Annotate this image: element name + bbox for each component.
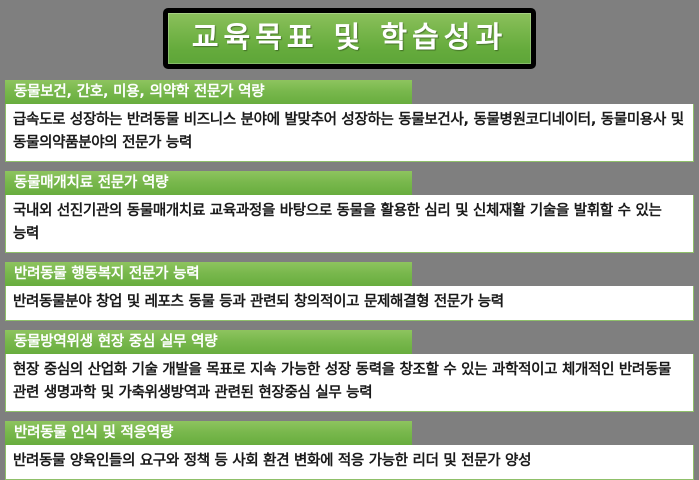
title-box: 교육목표 및 학습성과 (163, 8, 536, 69)
competency-section: 동물보건, 간호, 미용, 의약학 전문가 역량 급속도로 성장하는 반려동물 … (5, 80, 694, 162)
section-body-text: 현장 중심의 산업화 기술 개발을 목표로 지속 가능한 성장 동력을 창조할 … (13, 359, 686, 405)
section-header-label: 동물매개치료 전문가 역량 (14, 174, 412, 192)
section-body-text: 급속도로 성장하는 반려동물 비즈니스 분야에 발맞추어 성장하는 동물보건사,… (13, 109, 686, 155)
section-body-text: 국내외 선진기관의 동물매개치료 교육과정을 바탕으로 동물을 활용한 심리 및… (13, 200, 686, 246)
title-banner: 교육목표 및 학습성과 (0, 8, 699, 69)
competency-section: 동물방역위생 현장 중심 실무 역량 현장 중심의 산업화 기술 개발을 목표로… (5, 330, 694, 412)
competency-section: 반려동물 행동복지 전문가 능력 반려동물분야 창업 및 레포츠 동물 등과 관… (5, 262, 694, 321)
section-header-bar: 반려동물 인식 및 적응역량 (5, 421, 412, 445)
section-header-bar: 동물매개치료 전문가 역량 (5, 171, 412, 195)
section-header-label: 반려동물 행동복지 전문가 능력 (14, 265, 412, 283)
section-body-box: 국내외 선진기관의 동물매개치료 교육과정을 바탕으로 동물을 활용한 심리 및… (5, 195, 694, 253)
section-header-bar: 동물방역위생 현장 중심 실무 역량 (5, 330, 412, 354)
section-body-box: 반려동물 양육인들의 요구와 정책 등 사회 환견 변화에 적응 가능한 리더 … (5, 445, 694, 480)
competency-section-list: 동물보건, 간호, 미용, 의약학 전문가 역량 급속도로 성장하는 반려동물 … (5, 80, 694, 480)
section-body-box: 반려동물분야 창업 및 레포츠 동물 등과 관련되 창의적이고 문제해결형 전문… (5, 286, 694, 321)
section-body-box: 급속도로 성장하는 반려동물 비즈니스 분야에 발맞추어 성장하는 동물보건사,… (5, 104, 694, 162)
section-body-box: 현장 중심의 산업화 기술 개발을 목표로 지속 가능한 성장 동력을 창조할 … (5, 354, 694, 412)
section-header-label: 동물보건, 간호, 미용, 의약학 전문가 역량 (14, 83, 412, 101)
page-title: 교육목표 및 학습성과 (192, 18, 507, 56)
slide-root: 교육목표 및 학습성과 동물보건, 간호, 미용, 의약학 전문가 역량 급속도… (0, 0, 699, 480)
competency-section: 반려동물 인식 및 적응역량 반려동물 양육인들의 요구와 정책 등 사회 환견… (5, 421, 694, 480)
section-header-label: 반려동물 인식 및 적응역량 (14, 424, 412, 442)
section-body-text: 반려동물 양육인들의 요구와 정책 등 사회 환견 변화에 적응 가능한 리더 … (13, 450, 686, 473)
section-header-label: 동물방역위생 현장 중심 실무 역량 (14, 333, 412, 351)
section-body-text: 반려동물분야 창업 및 레포츠 동물 등과 관련되 창의적이고 문제해결형 전문… (13, 291, 686, 314)
section-header-bar: 동물보건, 간호, 미용, 의약학 전문가 역량 (5, 80, 412, 104)
section-header-bar: 반려동물 행동복지 전문가 능력 (5, 262, 412, 286)
competency-section: 동물매개치료 전문가 역량 국내외 선진기관의 동물매개치료 교육과정을 바탕으… (5, 171, 694, 253)
